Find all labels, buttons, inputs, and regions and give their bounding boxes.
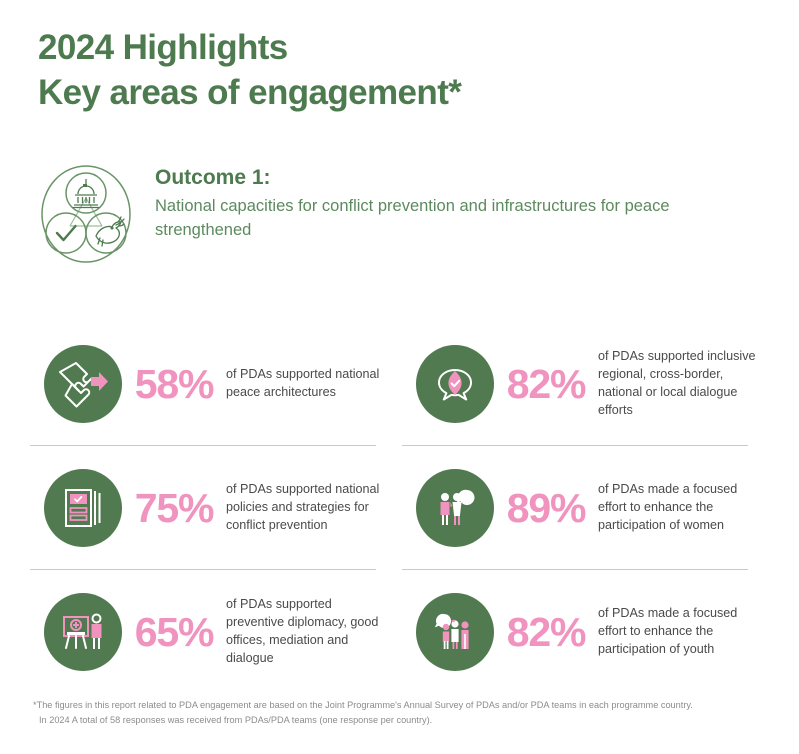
puzzle-pieces-icon (44, 345, 122, 423)
two-women-icon (416, 469, 494, 547)
stat-percent: 89% (494, 485, 598, 532)
stat-percent: 82% (494, 609, 598, 656)
stat-card: 82% of PDAs made a focused effort to enh… (402, 570, 774, 694)
stat-percent: 75% (122, 485, 226, 532)
footnote: *The figures in this report related to P… (33, 698, 773, 728)
stat-card: 75% of PDAs supported national policies … (30, 446, 402, 570)
stats-grid: 58% of PDAs supported national peace arc… (30, 322, 774, 694)
title-line-2: Key areas of engagement* (38, 71, 758, 116)
stat-percent: 58% (122, 361, 226, 408)
stat-description: of PDAs supported inclusive regional, cr… (598, 348, 756, 420)
outcome-text: Outcome 1: National capacities for confl… (155, 160, 735, 242)
presentation-board-icon (44, 593, 122, 671)
stat-card: 89% of PDAs made a focused effort to enh… (402, 446, 774, 570)
stat-description: of PDAs made a focused effort to enhance… (598, 605, 756, 659)
stat-description: of PDAs supported national peace archite… (226, 366, 384, 402)
footnote-line-2: In 2024 A total of 58 responses was rece… (33, 713, 773, 728)
title-line-1: 2024 Highlights (38, 26, 758, 71)
stat-description: of PDAs supported preventive diplomacy, … (226, 596, 384, 668)
policy-document-icon (44, 469, 122, 547)
stat-percent: 65% (122, 609, 226, 656)
outcome-block: Outcome 1: National capacities for confl… (40, 160, 760, 264)
outcome-description: National capacities for conflict prevent… (155, 195, 735, 242)
stat-card: 65% of PDAs supported preventive diploma… (30, 570, 402, 694)
stat-description: of PDAs supported national policies and … (226, 481, 384, 535)
stat-percent: 82% (494, 361, 598, 408)
peace-governance-icon (40, 164, 132, 264)
stat-card: 58% of PDAs supported national peace arc… (30, 322, 402, 446)
outcome-title: Outcome 1: (155, 164, 735, 191)
three-youth-icon (416, 593, 494, 671)
footnote-line-1: *The figures in this report related to P… (33, 698, 773, 713)
dialogue-bubbles-icon (416, 345, 494, 423)
page-title: 2024 Highlights Key areas of engagement* (38, 26, 758, 116)
stat-description: of PDAs made a focused effort to enhance… (598, 481, 756, 535)
stat-card: 82% of PDAs supported inclusive regional… (402, 322, 774, 446)
